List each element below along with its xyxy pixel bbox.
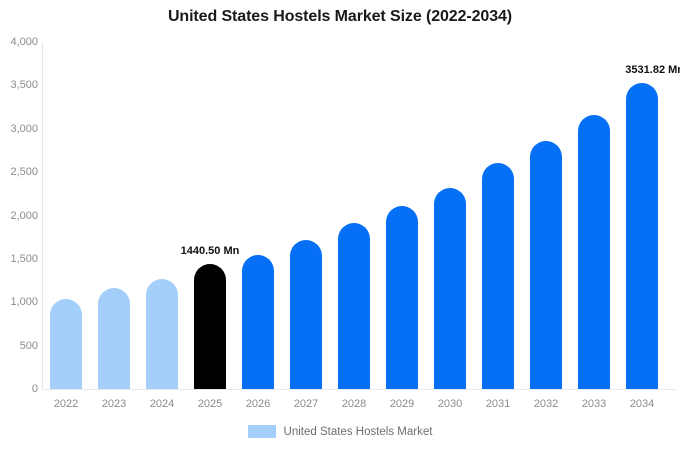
bar-group-2030 xyxy=(434,42,466,389)
x-axis-tick-2029: 2029 xyxy=(378,398,426,410)
y-axis-tick-500: 500 xyxy=(2,340,38,352)
x-axis-line xyxy=(42,389,676,390)
bar-2028[interactable] xyxy=(338,223,370,389)
x-axis-tick-2031: 2031 xyxy=(474,398,522,410)
bar-2030[interactable] xyxy=(434,188,466,389)
y-axis-tick-2500: 2,500 xyxy=(2,166,38,178)
y-axis-tick-2000: 2,000 xyxy=(2,210,38,222)
bar-group-2024 xyxy=(146,42,178,389)
x-axis-tick-2027: 2027 xyxy=(282,398,330,410)
x-axis-tick-2022: 2022 xyxy=(42,398,90,410)
bar-2022[interactable] xyxy=(50,299,82,389)
bar-group-2026 xyxy=(242,42,274,389)
bar-group-2023 xyxy=(98,42,130,389)
x-axis-tick-2026: 2026 xyxy=(234,398,282,410)
bar-group-2033 xyxy=(578,42,610,389)
x-axis-tick-labels: 2022202320242025202620272028202920302031… xyxy=(42,398,676,414)
bar-2033[interactable] xyxy=(578,115,610,389)
bar-group-2027 xyxy=(290,42,322,389)
y-axis-tick-1000: 1,000 xyxy=(2,296,38,308)
bar-2027[interactable] xyxy=(290,240,322,389)
legend-label-united-states-hostels-market: United States Hostels Market xyxy=(284,426,433,438)
bar-2031[interactable] xyxy=(482,163,514,389)
chart-title: United States Hostels Market Size (2022-… xyxy=(0,8,680,26)
x-axis-tick-2030: 2030 xyxy=(426,398,474,410)
bar-group-2032 xyxy=(530,42,562,389)
bar-group-2029 xyxy=(386,42,418,389)
x-axis-tick-2032: 2032 xyxy=(522,398,570,410)
bar-value-label-2025: 1440.50 Mn xyxy=(181,245,240,257)
plot-area: 1440.50 Mn3531.82 Mn xyxy=(42,42,672,389)
x-axis-tick-2028: 2028 xyxy=(330,398,378,410)
bar-group-2031 xyxy=(482,42,514,389)
bar-2024[interactable] xyxy=(146,279,178,389)
bar-2026[interactable] xyxy=(242,255,274,389)
bar-group-2034: 3531.82 Mn xyxy=(626,42,658,389)
bar-2032[interactable] xyxy=(530,141,562,389)
x-axis-tick-2033: 2033 xyxy=(570,398,618,410)
y-axis-tick-4000: 4,000 xyxy=(2,36,38,48)
bar-value-label-2034: 3531.82 Mn xyxy=(625,64,680,76)
bar-2029[interactable] xyxy=(386,206,418,389)
bar-2034[interactable]: 3531.82 Mn xyxy=(626,83,658,389)
chart-legend: United States Hostels Market xyxy=(0,425,680,438)
bar-2025[interactable]: 1440.50 Mn xyxy=(194,264,226,389)
y-axis-tick-0: 0 xyxy=(2,383,38,395)
bar-group-2028 xyxy=(338,42,370,389)
bar-chart: United States Hostels Market Size (2022-… xyxy=(0,0,680,450)
x-axis-tick-2024: 2024 xyxy=(138,398,186,410)
x-axis-tick-2023: 2023 xyxy=(90,398,138,410)
y-axis-tick-1500: 1,500 xyxy=(2,253,38,265)
bar-group-2022 xyxy=(50,42,82,389)
y-axis-tick-3000: 3,000 xyxy=(2,123,38,135)
x-axis-tick-2034: 2034 xyxy=(618,398,666,410)
y-axis-tick-labels: 4,0003,5003,0002,5002,0001,5001,0005000 xyxy=(0,0,38,450)
y-axis-tick-3500: 3,500 xyxy=(2,79,38,91)
bar-group-2025: 1440.50 Mn xyxy=(194,42,226,389)
bar-2023[interactable] xyxy=(98,288,130,389)
legend-swatch-united-states-hostels-market xyxy=(248,425,276,438)
x-axis-tick-2025: 2025 xyxy=(186,398,234,410)
